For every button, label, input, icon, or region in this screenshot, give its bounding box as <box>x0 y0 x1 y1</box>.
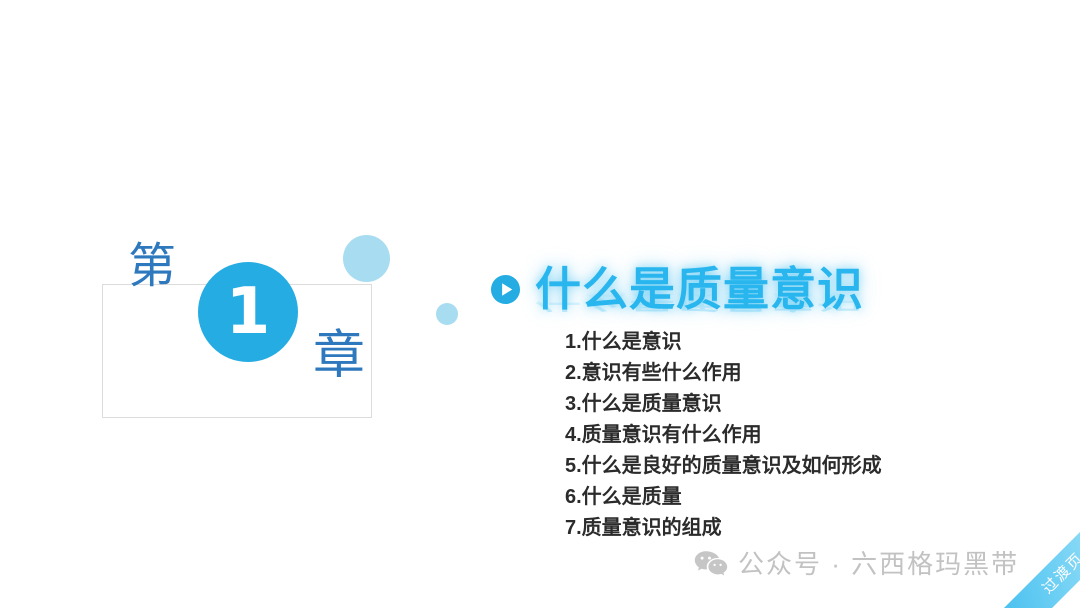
decorative-circle-large <box>343 235 390 282</box>
list-item: 2.意识有些什么作用 <box>565 358 882 389</box>
chapter-number-label: 1 <box>198 262 298 362</box>
topic-list: 1.什么是意识 2.意识有些什么作用 3.什么是质量意识 4.质量意识有什么作用… <box>565 327 882 544</box>
decorative-circle-small <box>436 303 458 325</box>
list-item: 7.质量意识的组成 <box>565 513 882 544</box>
list-item: 6.什么是质量 <box>565 482 882 513</box>
list-item: 5.什么是良好的质量意识及如何形成 <box>565 451 882 482</box>
slide-canvas: 第 1 章 什么是质量意识 什么是质量意识 1.什么是意识 2.意识有些什么作用… <box>0 0 1080 608</box>
play-circle-icon <box>490 274 521 305</box>
content-title-group: 什么是质量意识 什么是质量意识 <box>535 262 864 318</box>
list-item: 3.什么是质量意识 <box>565 389 882 420</box>
corner-ribbon-band: 过渡页 <box>998 526 1080 608</box>
chapter-marker-group: 第 1 章 <box>0 0 470 608</box>
corner-ribbon: 过渡页 <box>998 526 1080 608</box>
watermark-label: 公众号 · 六西格玛黑带 <box>738 548 1019 580</box>
wechat-icon <box>694 549 728 579</box>
corner-ribbon-label: 过渡页 <box>1016 550 1080 608</box>
chapter-number-badge: 1 <box>198 262 298 362</box>
chapter-prefix-label: 第 <box>128 243 176 291</box>
page-title: 什么是质量意识 <box>535 262 864 316</box>
watermark: 公众号 · 六西格玛黑带 <box>694 548 1019 580</box>
chapter-suffix-label: 章 <box>313 330 365 382</box>
content-group: 什么是质量意识 什么是质量意识 1.什么是意识 2.意识有些什么作用 3.什么是… <box>470 0 1080 608</box>
list-item: 1.什么是意识 <box>565 327 882 358</box>
list-item: 4.质量意识有什么作用 <box>565 420 882 451</box>
